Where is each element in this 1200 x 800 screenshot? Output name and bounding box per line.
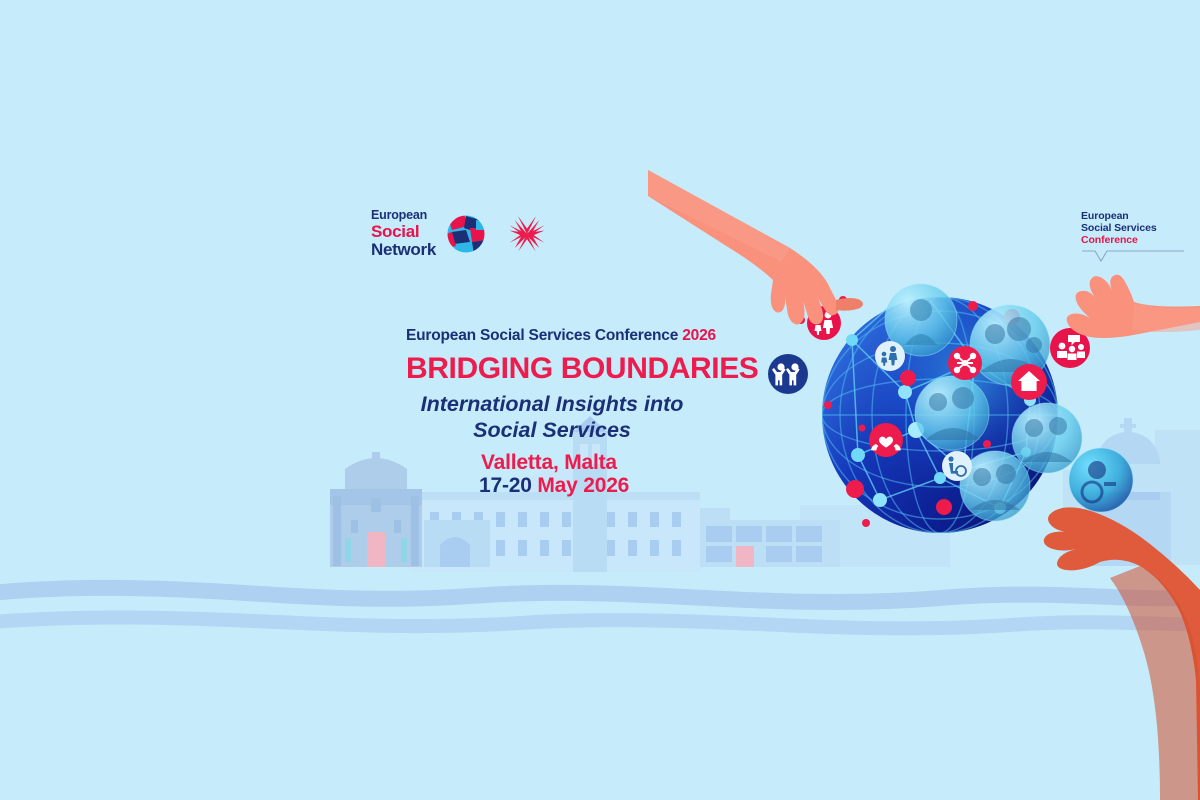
event-location: Valletta, Malta xyxy=(481,451,617,475)
esn-line-social: Social xyxy=(371,223,436,240)
esn-globe-icon xyxy=(446,214,486,254)
event-date-month-year: May 2026 xyxy=(537,474,629,497)
kicker-year: 2026 xyxy=(682,327,716,344)
event-kicker: European Social Services Conference 2026 xyxy=(406,327,746,345)
subtitle-line-2: Social Services xyxy=(406,418,698,444)
conf-logo-line-social-services: Social Services xyxy=(1081,222,1185,234)
event-dates: 17-20 May 2026 xyxy=(479,474,629,498)
conf-logo-line-european: European xyxy=(1081,210,1185,222)
maltese-cross-icon xyxy=(506,213,548,255)
european-social-network-logo[interactable]: European Social Network xyxy=(371,209,548,258)
headline-block: European Social Services Conference 2026… xyxy=(406,327,746,443)
european-social-services-conference-logo[interactable]: European Social Services Conference xyxy=(1081,210,1185,269)
event-date-days: 17-20 xyxy=(479,474,532,497)
speech-bubble-underline xyxy=(1081,250,1185,264)
esn-line-network: Network xyxy=(371,241,436,258)
esn-line-european: European xyxy=(371,209,436,222)
page-title: BRIDGING BOUNDARIES xyxy=(406,352,746,386)
subtitle-line-1: International Insights into xyxy=(406,392,698,418)
hand-cupping-bottom-right xyxy=(1044,507,1200,800)
conf-logo-line-conference: Conference xyxy=(1081,234,1185,246)
page-subtitle: International Insights into Social Servi… xyxy=(406,392,698,443)
kicker-text: European Social Services Conference xyxy=(406,327,678,344)
hand-reaching-top xyxy=(648,170,863,324)
hand-reaching-right xyxy=(1067,275,1200,390)
conference-banner: European Social Network Eu xyxy=(0,0,1200,800)
esn-wordmark: European Social Network xyxy=(371,209,436,258)
